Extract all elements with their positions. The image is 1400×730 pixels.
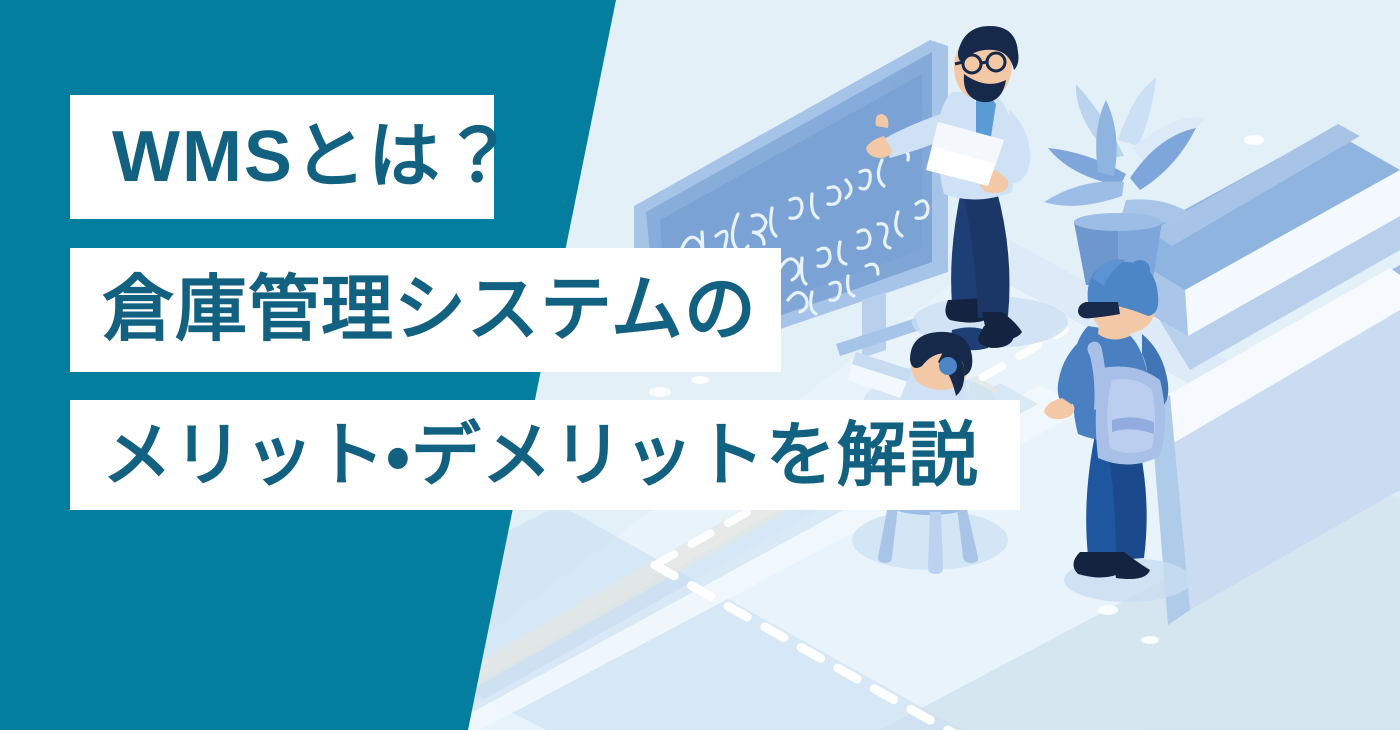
header-banner: WMSとは？ 倉庫管理システムの メリット・デメリットを解説 [0, 0, 1400, 730]
title-line-1-text: WMSとは？ [112, 121, 516, 193]
title-line-2-text: 倉庫管理システムの [102, 274, 757, 346]
title-line-1-box: WMSとは？ [70, 95, 494, 219]
title-line-3-box: メリット・デメリットを解説 [70, 400, 1020, 510]
title-line-3-text: メリット・デメリットを解説 [102, 420, 979, 490]
title-line-2-box: 倉庫管理システムの [70, 248, 781, 372]
